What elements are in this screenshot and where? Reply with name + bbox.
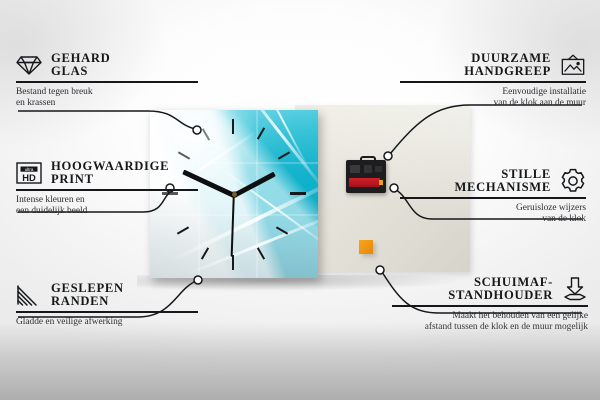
feature-stille-mechanisme: STILLE MECHANISME Geruisloze wijzers van… xyxy=(400,168,586,226)
svg-text:HD: HD xyxy=(22,172,36,183)
feature-description: Maakt het behouden van een gelijke afsta… xyxy=(392,311,588,334)
picture-frame-hanger-icon xyxy=(560,52,586,78)
ultra-hd-icon: ultra HD xyxy=(16,160,42,186)
feature-divider xyxy=(400,81,586,83)
feature-divider xyxy=(16,189,198,191)
feature-title: GEHARD GLAS xyxy=(51,52,110,78)
feature-title: SCHUIMAF- STANDHOUDER xyxy=(448,276,553,302)
feature-description: Gladde en veilige afwerking xyxy=(16,317,198,328)
feature-title: DUURZAME HANDGREEP xyxy=(464,52,551,78)
feature-description: Intense kleuren en een duidelijk beeld xyxy=(16,195,198,218)
feature-divider xyxy=(392,305,588,307)
feature-geslepen-randen: GESLEPEN RANDEN Gladde en veilige afwerk… xyxy=(16,282,198,328)
feature-divider xyxy=(16,311,198,313)
feature-divider xyxy=(16,81,198,83)
diamond-icon xyxy=(16,52,42,78)
infographic-canvas: GEHARD GLAS Bestand tegen breuk en krass… xyxy=(0,0,600,400)
feature-divider xyxy=(400,197,586,199)
feature-description: Geruisloze wijzers van de klok xyxy=(400,203,586,226)
feature-hoogwaardige-print: ultra HD HOOGWAARDIGE PRINT Intense kleu… xyxy=(16,160,198,218)
feature-title: GESLEPEN RANDEN xyxy=(51,282,124,308)
feature-duurzame-handgreep: DUURZAME HANDGREEP Eenvoudige installati… xyxy=(400,52,586,110)
beveled-edge-icon xyxy=(16,282,42,308)
feature-description: Eenvoudige installatie van de klok aan d… xyxy=(400,87,586,110)
down-arrow-pad-icon xyxy=(562,276,588,302)
feature-title: HOOGWAARDIGE PRINT xyxy=(51,160,169,186)
feature-title: STILLE MECHANISME xyxy=(454,168,551,194)
feature-gehard-glas: GEHARD GLAS Bestand tegen breuk en krass… xyxy=(16,52,198,110)
feature-description: Bestand tegen breuk en krassen xyxy=(16,87,198,110)
gear-icon xyxy=(560,168,586,194)
feature-schuimaf-standhouder: SCHUIMAF- STANDHOUDER Maakt het behouden… xyxy=(392,276,588,334)
